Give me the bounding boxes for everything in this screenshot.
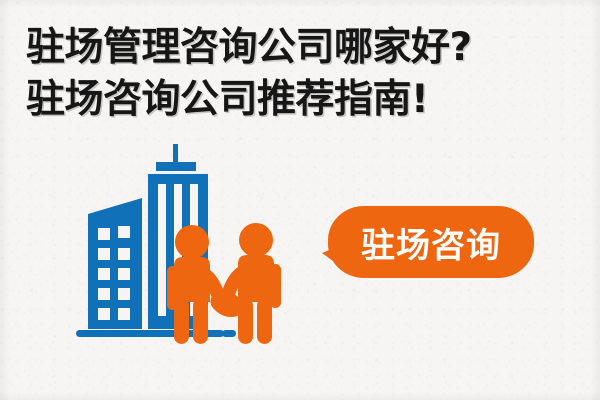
- person-left-icon: [167, 225, 225, 344]
- page-title: 驻场管理咨询公司哪家好? 驻场咨询公司推荐指南!: [26, 22, 574, 126]
- person-right-icon: [221, 223, 281, 344]
- headline-line-1: 驻场管理咨询公司哪家好?: [26, 22, 574, 74]
- short-office-building-icon: [88, 198, 142, 329]
- business-handshake-buildings-icon: [60, 140, 310, 345]
- ground-line-icon: [76, 330, 236, 337]
- headline-line-2: 驻场咨询公司推荐指南!: [26, 74, 574, 126]
- poster-canvas: 驻场管理咨询公司哪家好? 驻场咨询公司推荐指南!: [0, 0, 600, 400]
- tall-tower-antenna-icon: [156, 144, 196, 171]
- speech-bubble-label: 驻场咨询: [328, 206, 534, 278]
- speech-bubble-callout[interactable]: 驻场咨询: [322, 206, 534, 284]
